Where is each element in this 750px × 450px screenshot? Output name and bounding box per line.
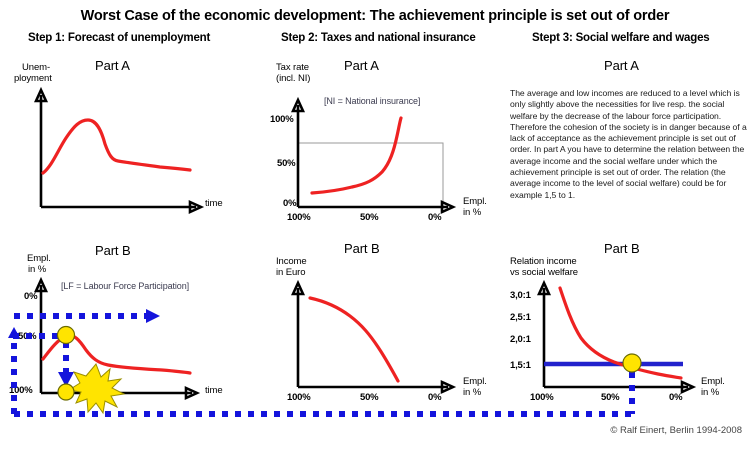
col3-partB-plot [0, 0, 750, 450]
diagram-canvas: Worst Case of the economic development: … [0, 0, 750, 450]
col3-partB-marker [623, 354, 641, 372]
copyright-notice: © Ralf Einert, Berlin 1994-2008 [610, 425, 742, 436]
